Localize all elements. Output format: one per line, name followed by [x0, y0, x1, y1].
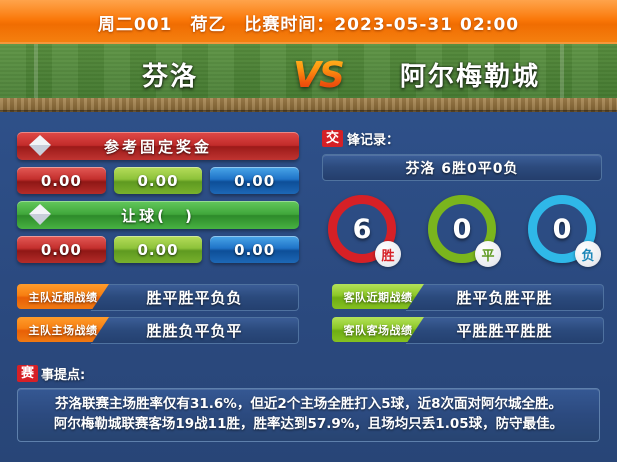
h2h-heading-text: 锋记录： [347, 129, 399, 148]
h2h-summary: 芬洛 6胜0平0负 [322, 154, 602, 181]
tips-heading-text: 事提点: [41, 364, 85, 383]
h2h-win-badge: 胜 [375, 241, 401, 267]
diamond-icon [29, 135, 51, 157]
h2h-ring-lose: 0 负 [528, 195, 596, 263]
fixed-odd-draw[interactable]: 0.00 [114, 167, 203, 194]
handicap-odds-row: 0.00 0.00 0.00 [17, 236, 299, 263]
h2h-panel: 交 锋记录： 芬洛 6胜0平0负 6 胜 0 平 0 负 [322, 128, 602, 263]
fixed-bonus-label: 参考固定奖金 [104, 136, 212, 157]
diamond-icon [29, 204, 51, 226]
h2h-lose-badge: 负 [575, 241, 601, 267]
handicap-label: 让球( ) [121, 205, 195, 226]
record-value-home-home: 胜胜负平负平 [91, 317, 299, 344]
fixed-odd-win[interactable]: 0.00 [17, 167, 106, 194]
record-row-away-away: 客队客场战绩 平胜胜平胜胜 [332, 317, 604, 342]
tips-line-1: 芬洛联赛主场胜率仅有31.6%，但近2个主场全胜打入5球，近8次面对阿尔城全胜。 [26, 394, 591, 414]
handicap-bar[interactable]: 让球( ) [17, 201, 299, 229]
fixed-odds-row: 0.00 0.00 0.00 [17, 167, 299, 194]
record-value-away-away: 平胜胜平胜胜 [406, 317, 604, 344]
header-title: 周二001 荷乙 比赛时间：2023-05-31 02:00 [0, 0, 617, 44]
h2h-ring-draw: 0 平 [428, 195, 496, 263]
home-team-name: 芬洛 [60, 44, 280, 104]
header-bar: 周二001 荷乙 比赛时间：2023-05-31 02:00 [0, 0, 617, 44]
tips-section: 赛 事提点: 芬洛联赛主场胜率仅有31.6%，但近2个主场全胜打入5球，近8次面… [17, 364, 600, 442]
body-panel: 参考固定奖金 0.00 0.00 0.00 让球( ) 0.00 0.00 0.… [0, 112, 617, 462]
match-preview-card: 周二001 荷乙 比赛时间：2023-05-31 02:00 芬洛 VS 阿尔梅… [0, 0, 617, 462]
h2h-heading: 交 锋记录： [322, 128, 602, 148]
h2h-draw-badge: 平 [475, 241, 501, 267]
handicap-odd-lose[interactable]: 0.00 [210, 236, 299, 263]
h2h-tag-badge: 交 [322, 130, 343, 147]
h2h-rings: 6 胜 0 平 0 负 [322, 195, 602, 263]
odds-panel: 参考固定奖金 0.00 0.00 0.00 让球( ) 0.00 0.00 0.… [17, 132, 299, 263]
record-value-home-recent: 胜平胜平负负 [91, 284, 299, 311]
tips-line-2: 阿尔梅勒城联赛客场19战11胜，胜率达到57.9%，且场均只丢1.05球，防守最… [26, 414, 591, 434]
record-row-home-recent: 主队近期战绩 胜平胜平负负 [17, 284, 299, 309]
tips-heading: 赛 事提点: [17, 364, 600, 382]
tips-tag-badge: 赛 [17, 365, 38, 382]
versus-icon: VS [288, 44, 348, 106]
fixed-bonus-bar[interactable]: 参考固定奖金 [17, 132, 299, 160]
h2h-ring-win: 6 胜 [328, 195, 396, 263]
fixed-odd-lose[interactable]: 0.00 [210, 167, 299, 194]
record-row-away-recent: 客队近期战绩 胜平负胜平胜 [332, 284, 604, 309]
handicap-odd-draw[interactable]: 0.00 [114, 236, 203, 263]
handicap-odd-win[interactable]: 0.00 [17, 236, 106, 263]
record-row-home-home: 主队主场战绩 胜胜负平负平 [17, 317, 299, 342]
records-section: 主队近期战绩 胜平胜平负负 主队主场战绩 胜胜负平负平 客队近期战绩 胜平负胜平… [0, 284, 617, 352]
record-value-away-recent: 胜平负胜平胜 [406, 284, 604, 311]
away-team-name: 阿尔梅勒城 [345, 44, 595, 104]
tips-box: 芬洛联赛主场胜率仅有31.6%，但近2个主场全胜打入5球，近8次面对阿尔城全胜。… [17, 388, 600, 442]
